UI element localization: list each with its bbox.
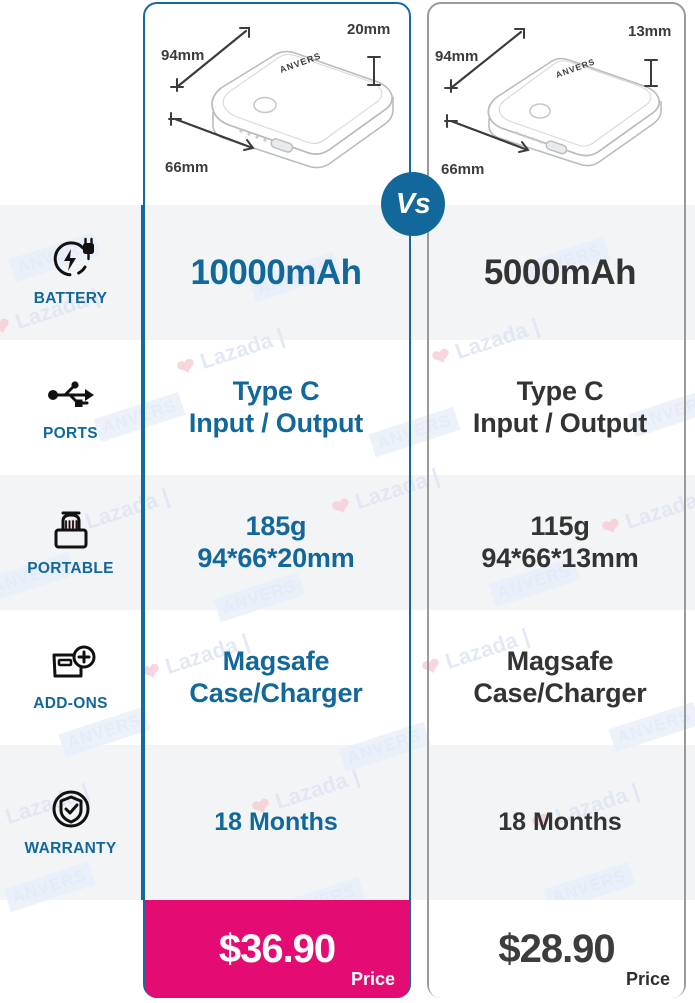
add-ons-value-right: Magsafe Case/Charger — [425, 646, 695, 710]
spec-row-add-ons: ADD-ONS Magsafe Case/Charger Magsafe Cas… — [0, 610, 695, 745]
portable-value-right: 115g 94*66*13mm — [425, 511, 695, 575]
comparison-infographic: ❤ Lazada | ❤ Lazada | ❤ Lazada | ❤ Lazad… — [0, 0, 695, 1003]
spec-label-text: PORTABLE — [27, 560, 114, 578]
ports-value-left: Type C Input / Output — [141, 376, 411, 440]
spec-label-battery: BATTERY — [0, 237, 141, 308]
warranty-value-right: 18 Months — [425, 808, 695, 838]
spec-label-text: WARRANTY — [25, 840, 117, 858]
spec-label-text: ADD-ONS — [33, 695, 107, 713]
spec-row-portable: PORTABLE 185g 94*66*20mm 115g 94*66*13mm — [0, 475, 695, 610]
price-tag-right: Price — [626, 969, 670, 990]
spec-label-ports: PORTS — [0, 372, 141, 443]
spec-row-battery: BATTERY 10000mAh 5000mAh — [0, 205, 695, 340]
spec-row-ports: PORTS Type C Input / Output Type C Input… — [0, 340, 695, 475]
warranty-value-left: 18 Months — [141, 808, 411, 838]
spec-label-text: PORTS — [43, 425, 98, 443]
spec-label-add-ons: ADD-ONS — [0, 642, 141, 713]
battery-value-right: 5000mAh — [425, 252, 695, 293]
price-amount-right: $28.90 — [498, 927, 614, 972]
price-tag-left: Price — [351, 969, 395, 990]
vs-badge: Vs — [381, 172, 445, 236]
spec-label-portable: PORTABLE — [0, 507, 141, 578]
battery-charge-icon — [43, 237, 99, 283]
portable-bag-icon — [43, 507, 99, 553]
add-ons-box-plus-icon — [43, 642, 99, 688]
shield-check-icon — [43, 787, 99, 833]
spec-row-warranty: WARRANTY 18 Months 18 Months — [0, 745, 695, 900]
spec-label-warranty: WARRANTY — [0, 787, 141, 858]
price-band-left[interactable]: $36.90 Price — [145, 900, 409, 998]
add-ons-value-left: Magsafe Case/Charger — [141, 646, 411, 710]
usb-icon — [43, 372, 99, 418]
spec-label-text: BATTERY — [34, 290, 108, 308]
ports-value-right: Type C Input / Output — [425, 376, 695, 440]
battery-value-left: 10000mAh — [141, 252, 411, 293]
portable-value-left: 185g 94*66*20mm — [141, 511, 411, 575]
price-band-right[interactable]: $28.90 Price — [429, 900, 684, 998]
price-amount-left: $36.90 — [219, 927, 335, 972]
